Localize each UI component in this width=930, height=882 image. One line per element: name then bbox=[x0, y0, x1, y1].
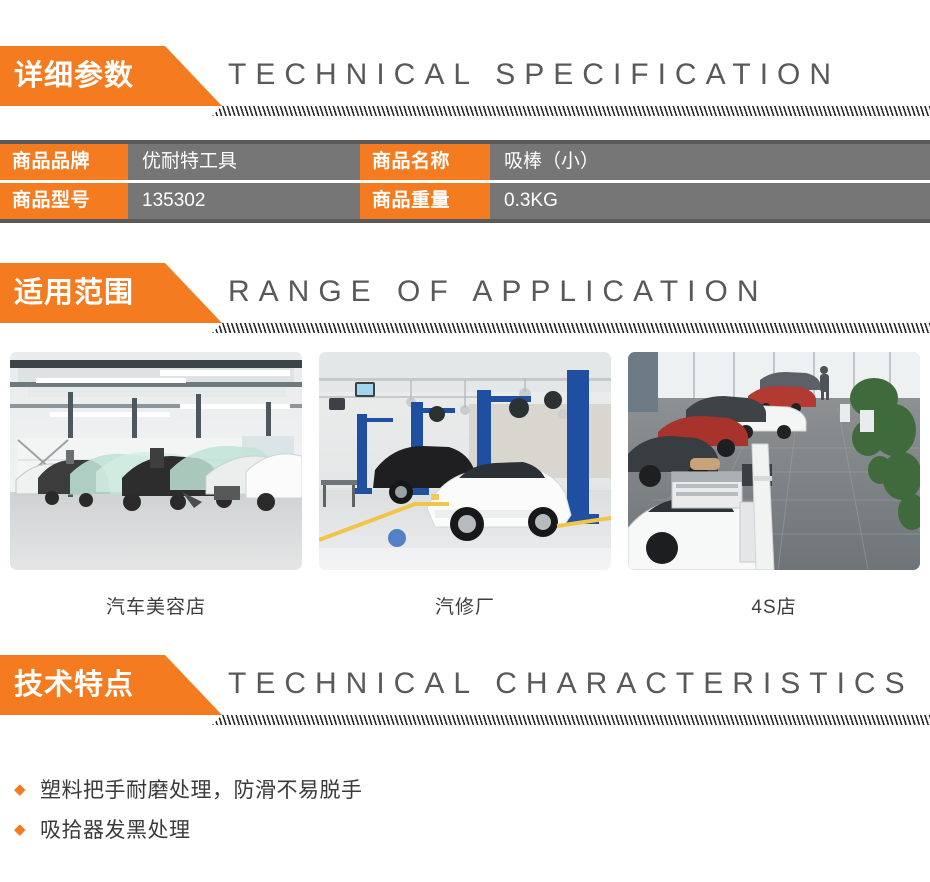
photo-repair-shop bbox=[319, 352, 611, 570]
section-title-en-specification: TECHNICAL SPECIFICATION bbox=[228, 46, 840, 104]
characteristics-list: ◆ 塑料把手耐磨处理，防滑不易脱手 ◆ 吸拾器发黑处理 bbox=[0, 769, 930, 849]
section-spacer bbox=[0, 619, 930, 655]
section-title-cn-characteristics: 技术特点 bbox=[14, 655, 134, 715]
photo-detailing-workshop bbox=[10, 352, 302, 570]
application-gallery: 汽车美容店 bbox=[10, 352, 920, 619]
section-header-characteristics: 技术特点 TECHNICAL CHARACTERISTICS bbox=[0, 655, 930, 725]
photo-dealership-showroom bbox=[628, 352, 920, 570]
section-title-cn-application: 适用范围 bbox=[14, 263, 134, 323]
spec-label-weight: 商品重量 bbox=[360, 183, 490, 219]
list-item: ◆ 吸拾器发黑处理 bbox=[14, 809, 930, 849]
hatch-stripe-band bbox=[0, 715, 930, 725]
spec-label-brand: 商品品牌 bbox=[0, 144, 128, 180]
section-spacer bbox=[0, 223, 930, 263]
spec-value-product-name: 吸棒（小） bbox=[490, 144, 930, 180]
spec-label-model: 商品型号 bbox=[0, 183, 128, 219]
list-item: ◆ 塑料把手耐磨处理，防滑不易脱手 bbox=[14, 769, 930, 809]
application-caption-repair: 汽修厂 bbox=[319, 592, 611, 619]
table-row: 商品品牌 优耐特工具 商品名称 吸棒（小） bbox=[0, 144, 930, 180]
application-caption-dealership: 4S店 bbox=[628, 592, 920, 619]
characteristic-text: 塑料把手耐磨处理，防滑不易脱手 bbox=[40, 774, 363, 804]
application-item-detailing: 汽车美容店 bbox=[10, 352, 302, 619]
section-header-application: 适用范围 RANGE OF APPLICATION bbox=[0, 263, 930, 333]
application-item-dealership: 4S店 bbox=[628, 352, 920, 619]
application-caption-detailing: 汽车美容店 bbox=[10, 592, 302, 619]
section-title-cn-specification: 详细参数 bbox=[14, 46, 134, 106]
diamond-bullet-icon: ◆ bbox=[14, 822, 40, 837]
table-row: 商品型号 135302 商品重量 0.3KG bbox=[0, 180, 930, 219]
section-title-en-application: RANGE OF APPLICATION bbox=[228, 263, 768, 321]
hatch-stripe-band bbox=[0, 323, 930, 333]
top-spacer bbox=[0, 0, 930, 46]
spec-value-model: 135302 bbox=[128, 183, 360, 219]
spec-label-product-name: 商品名称 bbox=[360, 144, 490, 180]
section-header-specification: 详细参数 TECHNICAL SPECIFICATION bbox=[0, 46, 930, 116]
spec-value-brand: 优耐特工具 bbox=[128, 144, 360, 180]
hatch-stripe-band bbox=[0, 106, 930, 116]
characteristic-text: 吸拾器发黑处理 bbox=[40, 814, 191, 844]
application-item-repair: 汽修厂 bbox=[319, 352, 611, 619]
spec-value-weight: 0.3KG bbox=[490, 183, 930, 219]
diamond-bullet-icon: ◆ bbox=[14, 782, 40, 797]
section-title-en-characteristics: TECHNICAL CHARACTERISTICS bbox=[228, 655, 914, 713]
specification-table: 商品品牌 优耐特工具 商品名称 吸棒（小） 商品型号 135302 商品重量 0… bbox=[0, 140, 930, 223]
